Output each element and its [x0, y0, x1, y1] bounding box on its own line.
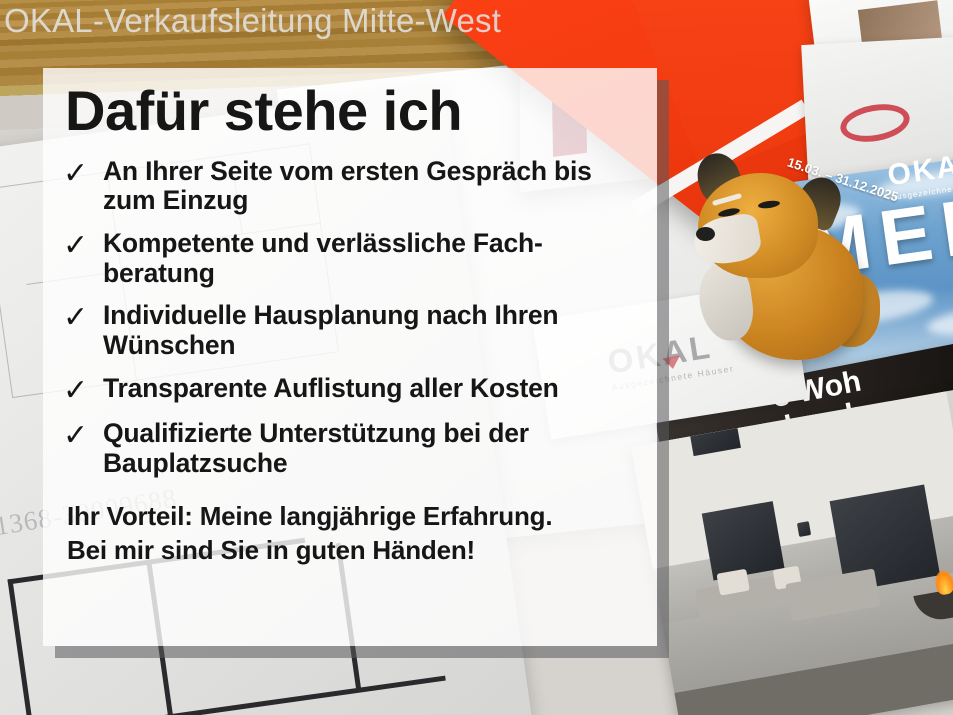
- check-icon: ✓: [63, 301, 103, 333]
- check-icon: ✓: [63, 229, 103, 261]
- list-item: ✓ An Ihrer Seite vom ersten Gespräch bis…: [63, 157, 635, 216]
- list-item-label: Qualifizierte Unterstützung bei der Baup…: [103, 419, 635, 478]
- plush-fox-figurine: [690, 155, 870, 365]
- list-item: ✓ Kompetente und verlässliche Fach-berat…: [63, 229, 635, 288]
- list-item: ✓ Transparente Auflistung aller Kosten: [63, 374, 635, 406]
- content-panel: Dafür stehe ich ✓ An Ihrer Seite vom ers…: [43, 68, 657, 646]
- slide-title: Dafür stehe ich: [65, 82, 635, 141]
- slide-canvas: OKAL Ausgezeichnete Häuser 15.03. – 31.1…: [0, 0, 953, 715]
- check-icon: ✓: [63, 157, 103, 189]
- list-item-label: An Ihrer Seite vom ersten Gespräch bis z…: [103, 157, 635, 216]
- list-item: ✓ Qualifizierte Unterstützung bei der Ba…: [63, 419, 635, 478]
- list-item-label: Individuelle Hausplanung nach Ihren Wüns…: [103, 301, 635, 360]
- benefits-list: ✓ An Ihrer Seite vom ersten Gespräch bis…: [63, 157, 635, 478]
- list-item: ✓ Individuelle Hausplanung nach Ihren Wü…: [63, 301, 635, 360]
- closing-line-2: Bei mir sind Sie in guten Händen!: [67, 534, 635, 568]
- list-item-label: Kompetente und verlässliche Fach-beratun…: [103, 229, 635, 288]
- check-icon: ✓: [63, 374, 103, 406]
- closing-line-1: Ihr Vorteil: Meine langjährige Erfahrung…: [67, 500, 635, 534]
- page-title: OKAL-Verkaufsleitung Mitte-West: [4, 2, 501, 40]
- check-icon: ✓: [63, 419, 103, 451]
- fox-nose: [696, 227, 715, 241]
- list-item-label: Transparente Auflistung aller Kosten: [103, 374, 559, 404]
- closing-statement: Ihr Vorteil: Meine langjährige Erfahrung…: [63, 500, 635, 568]
